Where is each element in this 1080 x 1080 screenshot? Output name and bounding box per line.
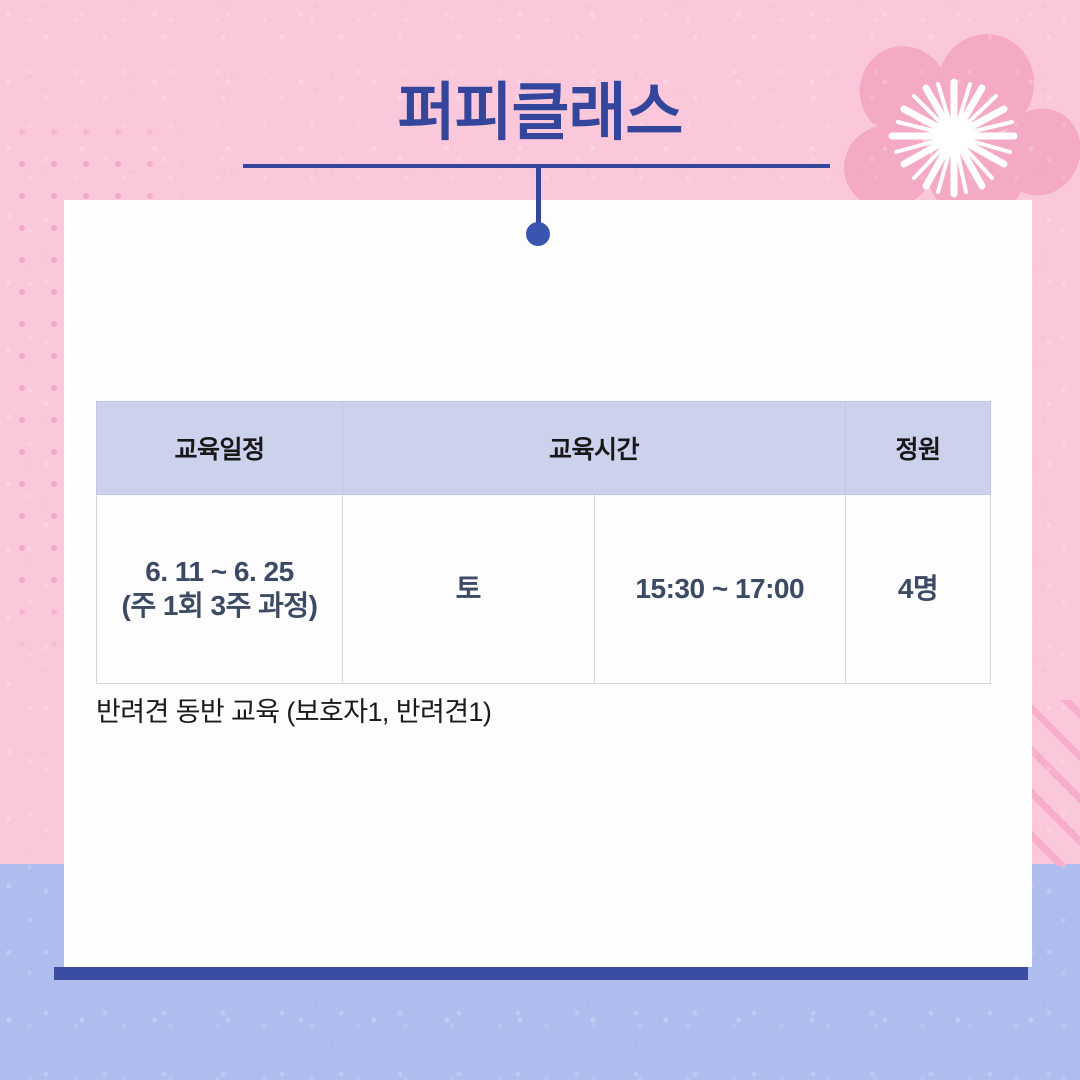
- pin-stem: [536, 164, 541, 230]
- cell-day: 토: [343, 495, 595, 684]
- table-caption: 반려견 동반 교육 (보호자1, 반려견1): [96, 690, 491, 729]
- column-header-date: 교육일정: [97, 402, 343, 495]
- cell-date-note: (주 1회 3주 과정): [122, 590, 318, 621]
- column-header-time: 교육시간: [343, 402, 846, 495]
- card-bottom-bar: [54, 967, 1028, 980]
- page-title: 퍼피클래스: [0, 82, 1080, 145]
- cell-date-range: 6. 11 ~ 6. 25: [145, 556, 293, 587]
- cell-capacity: 4명: [846, 495, 991, 684]
- table-row: 6. 11 ~ 6. 25 (주 1회 3주 과정) 토 15:30 ~ 17:…: [97, 495, 991, 684]
- table-header: 교육일정 교육시간 정원: [97, 402, 991, 495]
- cell-time: 15:30 ~ 17:00: [594, 495, 846, 684]
- table-header-row: 교육일정 교육시간 정원: [97, 402, 991, 495]
- cell-date: 6. 11 ~ 6. 25 (주 1회 3주 과정): [97, 495, 343, 684]
- schedule-table-container: 교육일정 교육시간 정원 6. 11 ~ 6. 25 (주 1회 3주 과정) …: [96, 401, 983, 684]
- poster-canvas: 퍼피클래스 교육일정 교육시간 정원 6. 11 ~ 6. 25 (주 1회 3…: [0, 0, 1080, 1080]
- pin-marker-icon: [526, 222, 550, 246]
- column-header-capacity: 정원: [846, 402, 991, 495]
- schedule-table: 교육일정 교육시간 정원 6. 11 ~ 6. 25 (주 1회 3주 과정) …: [96, 401, 991, 684]
- table-body: 6. 11 ~ 6. 25 (주 1회 3주 과정) 토 15:30 ~ 17:…: [97, 495, 991, 684]
